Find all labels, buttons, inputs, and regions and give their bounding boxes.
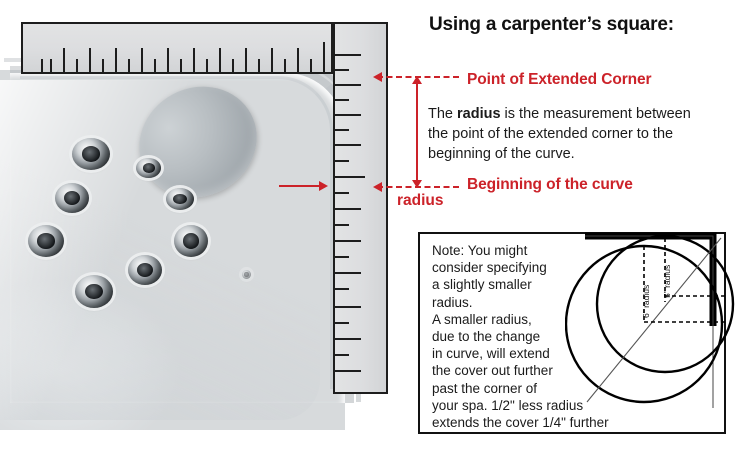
carpenter-square-horizontal-blade: [21, 22, 333, 74]
ruler-tick-minor: [335, 99, 349, 101]
label-6in-radius: 6" radius: [641, 285, 651, 318]
spa-jet: [136, 158, 161, 178]
ruler-tick-major: [335, 240, 361, 242]
note-line: A smaller radius,: [432, 311, 582, 328]
note-line: radius.: [432, 294, 582, 311]
curve-pointer-arrowhead: [319, 181, 328, 191]
ruler-tick-minor: [310, 59, 312, 72]
ruler-tick-minor: [154, 59, 156, 72]
spa-jet: [28, 225, 64, 257]
illustration-root: Using a carpenter’s square: Point of Ext…: [0, 0, 752, 456]
ruler-tick-major: [335, 114, 361, 116]
spa-jet: [166, 188, 194, 210]
ruler-tick-major: [335, 272, 361, 274]
spa-jet: [174, 225, 208, 257]
spa-photo-panel: [0, 0, 400, 430]
ruler-tick-major: [335, 176, 365, 178]
note-line: the cover out further: [432, 362, 582, 379]
radius-dimension-arrow-bottom: [412, 180, 422, 188]
ruler-tick-minor: [335, 69, 349, 71]
body-description: The radius is the measurement between th…: [428, 104, 708, 164]
ruler-tick-minor: [335, 192, 349, 194]
body-line1-pre: The: [428, 106, 457, 122]
page-title: Using a carpenter’s square:: [429, 14, 674, 36]
ruler-tick-minor: [335, 354, 349, 356]
ruler-tick-major: [167, 48, 169, 72]
ruler-tick-major: [335, 84, 361, 86]
note-line: Note: You might: [432, 242, 582, 259]
spa-jet: [72, 138, 110, 170]
ruler-tick-minor: [335, 288, 349, 290]
radius-comparison-diagram: 6" radius 5" radius: [565, 226, 735, 416]
ruler-tick-minor: [335, 322, 349, 324]
radius-comparison-svg: [565, 226, 735, 416]
label-radius: radius: [397, 192, 444, 210]
note-line: in curve, will extend: [432, 345, 582, 362]
ruler-tick-minor: [206, 59, 208, 72]
ruler-tick-minor: [258, 59, 260, 72]
ruler-tick-minor: [128, 59, 130, 72]
ruler-tick-minor: [180, 59, 182, 72]
ruler-tick-major: [219, 48, 221, 72]
ruler-tick-major: [335, 306, 361, 308]
note-line: extends the cover 1/4" further: [432, 414, 652, 431]
note-line: consider specifying: [432, 259, 582, 276]
note-text: Note: You might consider specifying a sl…: [432, 242, 582, 431]
ruler-tick-major: [297, 48, 299, 72]
ruler-tick-minor: [232, 59, 234, 72]
radius-dimension-line: [416, 82, 418, 182]
spa-corner-photo: [0, 70, 345, 430]
ruler-tick-minor: [102, 59, 104, 72]
label-point-of-extended-corner: Point of Extended Corner: [467, 71, 651, 89]
body-line1-bold: radius: [457, 106, 501, 122]
label-beginning-of-the-curve: Beginning of the curve: [467, 176, 633, 194]
ruler-tick-minor: [335, 224, 349, 226]
curve-pointer-line: [279, 185, 321, 187]
spa-jet: [55, 183, 89, 213]
ruler-tick-major: [193, 48, 195, 72]
ruler-tick-major: [271, 48, 273, 72]
note-line: past the corner of: [432, 380, 582, 397]
note-line: a slightly smaller: [432, 276, 582, 293]
ruler-tick-minor: [335, 160, 349, 162]
spa-jet: [128, 255, 162, 285]
ruler-tick-major: [335, 338, 361, 340]
ruler-tick-major: [335, 208, 361, 210]
curve-leader-arrowhead: [373, 182, 382, 192]
corner-leader-arrowhead: [373, 72, 382, 82]
ruler-tick-minor: [41, 59, 43, 72]
ruler-tick-major: [141, 48, 143, 72]
ruler-tick-major: [115, 48, 117, 72]
radius-dimension-arrow-top: [412, 76, 422, 84]
ruler-tick-minor: [76, 59, 78, 72]
ruler-tick-minor: [284, 59, 286, 72]
note-line: due to the change: [432, 328, 582, 345]
ruler-tick-major: [323, 42, 325, 72]
ruler-tick-major: [89, 48, 91, 72]
ruler-tick-major: [63, 48, 65, 72]
body-line1-post: is the measurement: [501, 106, 632, 122]
ruler-tick-minor: [50, 59, 52, 72]
ruler-tick-major: [335, 144, 361, 146]
ruler-tick-major: [245, 48, 247, 72]
ruler-tick-minor: [335, 129, 349, 131]
ruler-tick-major: [335, 54, 361, 56]
spa-jet: [75, 275, 113, 308]
spa-jet: [242, 270, 251, 279]
ruler-tick-major: [335, 370, 361, 372]
ruler-tick-minor: [335, 256, 349, 258]
label-5in-radius: 5" radius: [662, 265, 672, 298]
note-box: Note: You might consider specifying a sl…: [418, 232, 726, 434]
